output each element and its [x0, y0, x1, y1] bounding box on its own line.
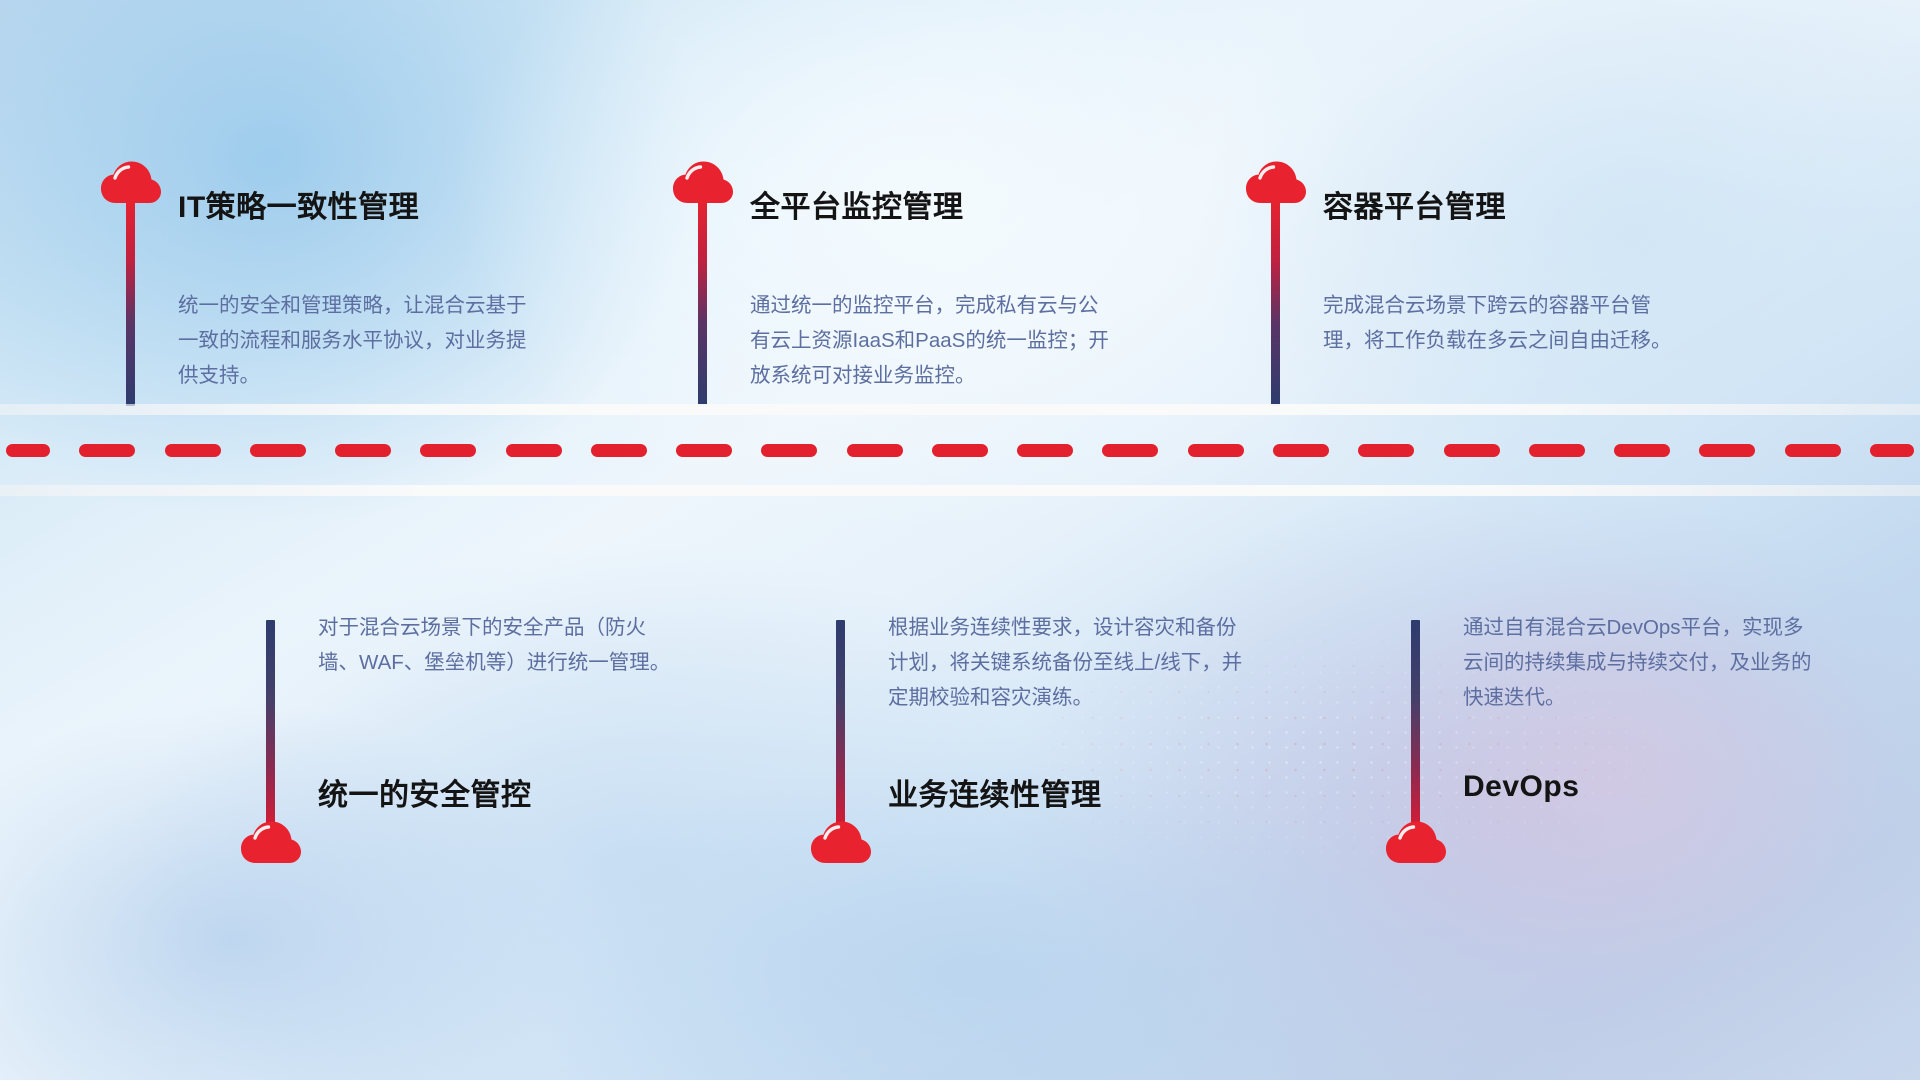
divider-dash	[6, 444, 50, 457]
card-heading: 容器平台管理	[1323, 182, 1506, 226]
cloud-icon	[810, 820, 872, 864]
divider-dash	[932, 444, 988, 457]
card-description: 通过自有混合云DevOps平台，实现多云间的持续集成与持续交付，及业务的快速迭代…	[1463, 610, 1823, 715]
card-description: 对于混合云场景下的安全产品（防火墙、WAF、堡垒机等）进行统一管理。	[318, 610, 678, 680]
card-description: 完成混合云场景下跨云的容器平台管理，将工作负载在多云之间自由迁移。	[1323, 288, 1683, 358]
divider-dash	[1188, 444, 1244, 457]
divider-dash	[1017, 444, 1073, 457]
connector-line	[1411, 620, 1420, 828]
connector-line	[836, 620, 845, 828]
divider-dash	[1102, 444, 1158, 457]
infographic-canvas: IT策略一致性管理 统一的安全和管理策略，让混合云基于一致的流程和服务水平协议，…	[0, 0, 1920, 1080]
divider-dash	[1870, 444, 1914, 457]
card-description: 根据业务连续性要求，设计容灾和备份计划，将关键系统备份至线上/线下，并定期校验和…	[888, 610, 1248, 715]
divider-dash	[1529, 444, 1585, 457]
connector-line	[266, 620, 275, 828]
divider-dash	[165, 444, 221, 457]
divider-dash	[79, 444, 135, 457]
divider-dash	[1444, 444, 1500, 457]
background-blob	[0, 700, 580, 1080]
divider-dash	[1273, 444, 1329, 457]
card-description: 通过统一的监控平台，完成私有云与公有云上资源IaaS和PaaS的统一监控；开放系…	[750, 288, 1110, 393]
divider-dash	[1699, 444, 1755, 457]
card-heading: 全平台监控管理	[750, 182, 964, 226]
divider-dash	[676, 444, 732, 457]
connector-line	[1271, 198, 1280, 406]
connector-line	[126, 198, 135, 406]
cloud-icon	[240, 820, 302, 864]
card-description: 统一的安全和管理策略，让混合云基于一致的流程和服务水平协议，对业务提供支持。	[178, 288, 538, 393]
card-heading: 统一的安全管控	[318, 770, 532, 814]
divider-bar-bottom	[0, 485, 1920, 496]
divider-dash	[591, 444, 647, 457]
divider-dash	[420, 444, 476, 457]
divider-dash	[335, 444, 391, 457]
card-heading: DevOps	[1463, 770, 1579, 804]
divider-dash	[1614, 444, 1670, 457]
background-blob	[420, 0, 1420, 560]
divider-dash	[250, 444, 306, 457]
card-heading: 业务连续性管理	[888, 770, 1102, 814]
connector-line	[698, 198, 707, 406]
cloud-icon	[1385, 820, 1447, 864]
divider-dash	[506, 444, 562, 457]
divider-dash	[761, 444, 817, 457]
dashed-line-divider	[0, 443, 1920, 457]
card-heading: IT策略一致性管理	[178, 182, 419, 226]
divider-dash	[1785, 444, 1841, 457]
divider-dash	[1358, 444, 1414, 457]
divider-bar-top	[0, 404, 1920, 415]
background-blob	[980, 470, 1920, 1080]
background-blob	[0, 0, 720, 540]
divider-dash	[847, 444, 903, 457]
